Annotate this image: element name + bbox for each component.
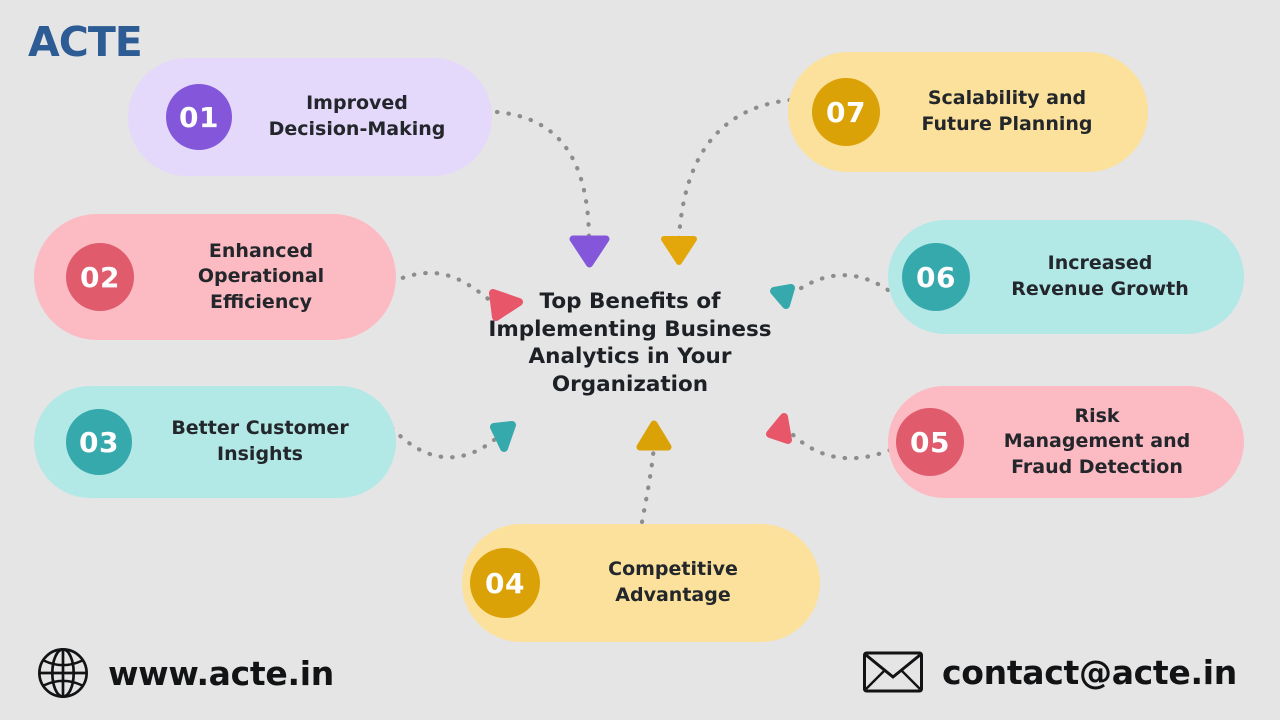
globe-icon xyxy=(36,646,90,700)
benefit-card-02[interactable]: 02 Enhanced Operational Efficiency xyxy=(34,214,396,340)
arrow-07 xyxy=(664,239,694,262)
connector-path-06 xyxy=(792,275,888,294)
connector-path-05 xyxy=(790,432,890,458)
benefit-number-01: 01 xyxy=(166,84,232,150)
connector-path-01 xyxy=(497,112,589,238)
email-text: contact@acte.in xyxy=(942,653,1237,692)
benefit-label-06: Increased Revenue Growth xyxy=(970,251,1230,302)
arrow-04 xyxy=(640,424,668,447)
connector-path-04 xyxy=(642,446,654,522)
benefit-label-07: Scalability and Future Planning xyxy=(880,86,1134,137)
page-title: Top Benefits of Implementing Business An… xyxy=(455,288,805,398)
benefit-card-05[interactable]: 05 Risk Management and Fraud Detection xyxy=(888,386,1244,498)
acte-logo: ACTE xyxy=(28,22,142,63)
benefit-card-03[interactable]: 03 Better Customer Insights xyxy=(34,386,396,498)
benefit-label-03: Better Customer Insights xyxy=(132,416,388,467)
benefit-number-03: 03 xyxy=(66,409,132,475)
benefit-label-02: Enhanced Operational Efficiency xyxy=(134,239,388,316)
arrow-05 xyxy=(770,417,788,440)
benefit-card-07[interactable]: 07 Scalability and Future Planning xyxy=(788,52,1148,172)
connector-path-03 xyxy=(392,428,494,457)
benefit-card-06[interactable]: 06 Increased Revenue Growth xyxy=(888,220,1244,334)
benefit-number-06: 06 xyxy=(902,243,970,311)
footer-email[interactable]: contact@acte.in xyxy=(862,648,1237,696)
benefit-number-07: 07 xyxy=(812,78,880,146)
envelope-icon xyxy=(862,648,924,696)
infographic-canvas: ACTE Top Benefits of Implementing Busine… xyxy=(0,0,1280,720)
arrow-03 xyxy=(494,425,512,448)
benefit-card-01[interactable]: 01 Improved Decision-Making xyxy=(128,58,492,176)
website-text: www.acte.in xyxy=(108,654,334,693)
benefit-number-04: 04 xyxy=(470,548,540,618)
footer-website[interactable]: www.acte.in xyxy=(36,646,334,700)
benefit-card-04[interactable]: 04 Competitive Advantage xyxy=(462,524,820,642)
benefit-number-05: 05 xyxy=(896,408,964,476)
benefit-label-04: Competitive Advantage xyxy=(540,557,806,608)
arrow-01 xyxy=(573,239,606,264)
connector-path-07 xyxy=(679,100,790,238)
benefit-label-01: Improved Decision-Making xyxy=(232,91,482,142)
benefit-label-05: Risk Management and Fraud Detection xyxy=(964,404,1230,481)
benefit-number-02: 02 xyxy=(66,243,134,311)
